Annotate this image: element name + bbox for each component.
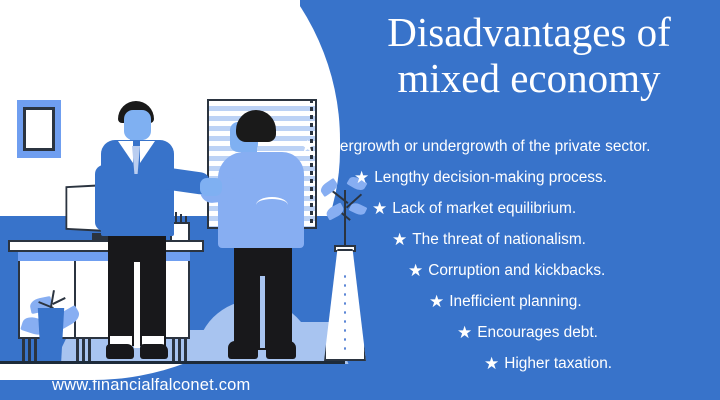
picture-frame-inner [23, 107, 55, 151]
person-one-left-arm [95, 165, 113, 231]
star-bullet-icon: ★ [484, 355, 499, 372]
list-item: ★Overgrowth or undergrowth of the privat… [300, 131, 716, 162]
person-two-shoe [228, 341, 258, 359]
person-two-shoe [266, 341, 296, 359]
star-bullet-icon: ★ [392, 231, 407, 248]
list-item-label: Overgrowth or undergrowth of the private… [320, 138, 650, 156]
desk-leg [178, 339, 181, 361]
star-bullet-icon: ★ [354, 169, 369, 186]
list-item: ★Lack of market equilibrium. [300, 193, 716, 224]
list-item: ★Higher taxation. [300, 348, 716, 379]
list-item: ★Corruption and kickbacks. [300, 255, 716, 286]
picture-frame-icon [17, 100, 61, 158]
star-bullet-icon: ★ [429, 293, 444, 310]
person-one-shoe [106, 344, 134, 359]
person-one-shoe [140, 344, 168, 359]
flower-pot-icon [36, 308, 66, 361]
list-item: ★Encourages debt. [300, 317, 716, 348]
site-url: www.financialfalconet.com [52, 376, 251, 395]
list-item-label: Encourages debt. [477, 324, 598, 342]
person-two-hair [236, 110, 276, 142]
list-item-label: Higher taxation. [504, 355, 612, 373]
desk-leg [82, 339, 85, 361]
star-bullet-icon: ★ [457, 324, 472, 341]
star-bullet-icon: ★ [372, 200, 387, 217]
list-item: ★Lengthy decision-making process. [300, 162, 716, 193]
desk-leg [184, 339, 187, 361]
desk-leg [88, 339, 91, 361]
star-bullet-icon: ★ [300, 138, 315, 155]
desk-surface [8, 240, 204, 252]
handshake-icon [200, 178, 222, 196]
list-item: ★Inefficient planning. [300, 286, 716, 317]
list-item-label: Corruption and kickbacks. [428, 262, 605, 280]
person-two-leg-gap [260, 276, 265, 348]
desk-leg [22, 339, 25, 361]
floor-baseline [0, 361, 345, 364]
desk-leg [172, 339, 175, 361]
star-bullet-icon: ★ [408, 262, 423, 279]
page-title-line-1: Disadvantages of [346, 9, 712, 55]
poster-canvas: Disadvantages of mixed economy ★Overgrow… [0, 0, 720, 400]
desk-leg [34, 339, 37, 361]
disadvantages-list: ★Overgrowth or undergrowth of the privat… [300, 131, 716, 379]
list-item-label: The threat of nationalism. [412, 231, 586, 249]
list-item-label: Lack of market equilibrium. [392, 200, 576, 218]
person-two-collar [256, 197, 288, 213]
desk-leg [76, 339, 79, 361]
page-title: Disadvantages of mixed economy [346, 9, 712, 101]
person-one-leg-gap [134, 262, 140, 348]
page-title-line-2: mixed economy [346, 55, 712, 101]
list-item-label: Lengthy decision-making process. [374, 169, 607, 187]
list-item: ★The threat of nationalism. [300, 224, 716, 255]
list-item-label: Inefficient planning. [449, 293, 581, 311]
desk-divider [74, 261, 76, 339]
desk-leg [28, 339, 31, 361]
